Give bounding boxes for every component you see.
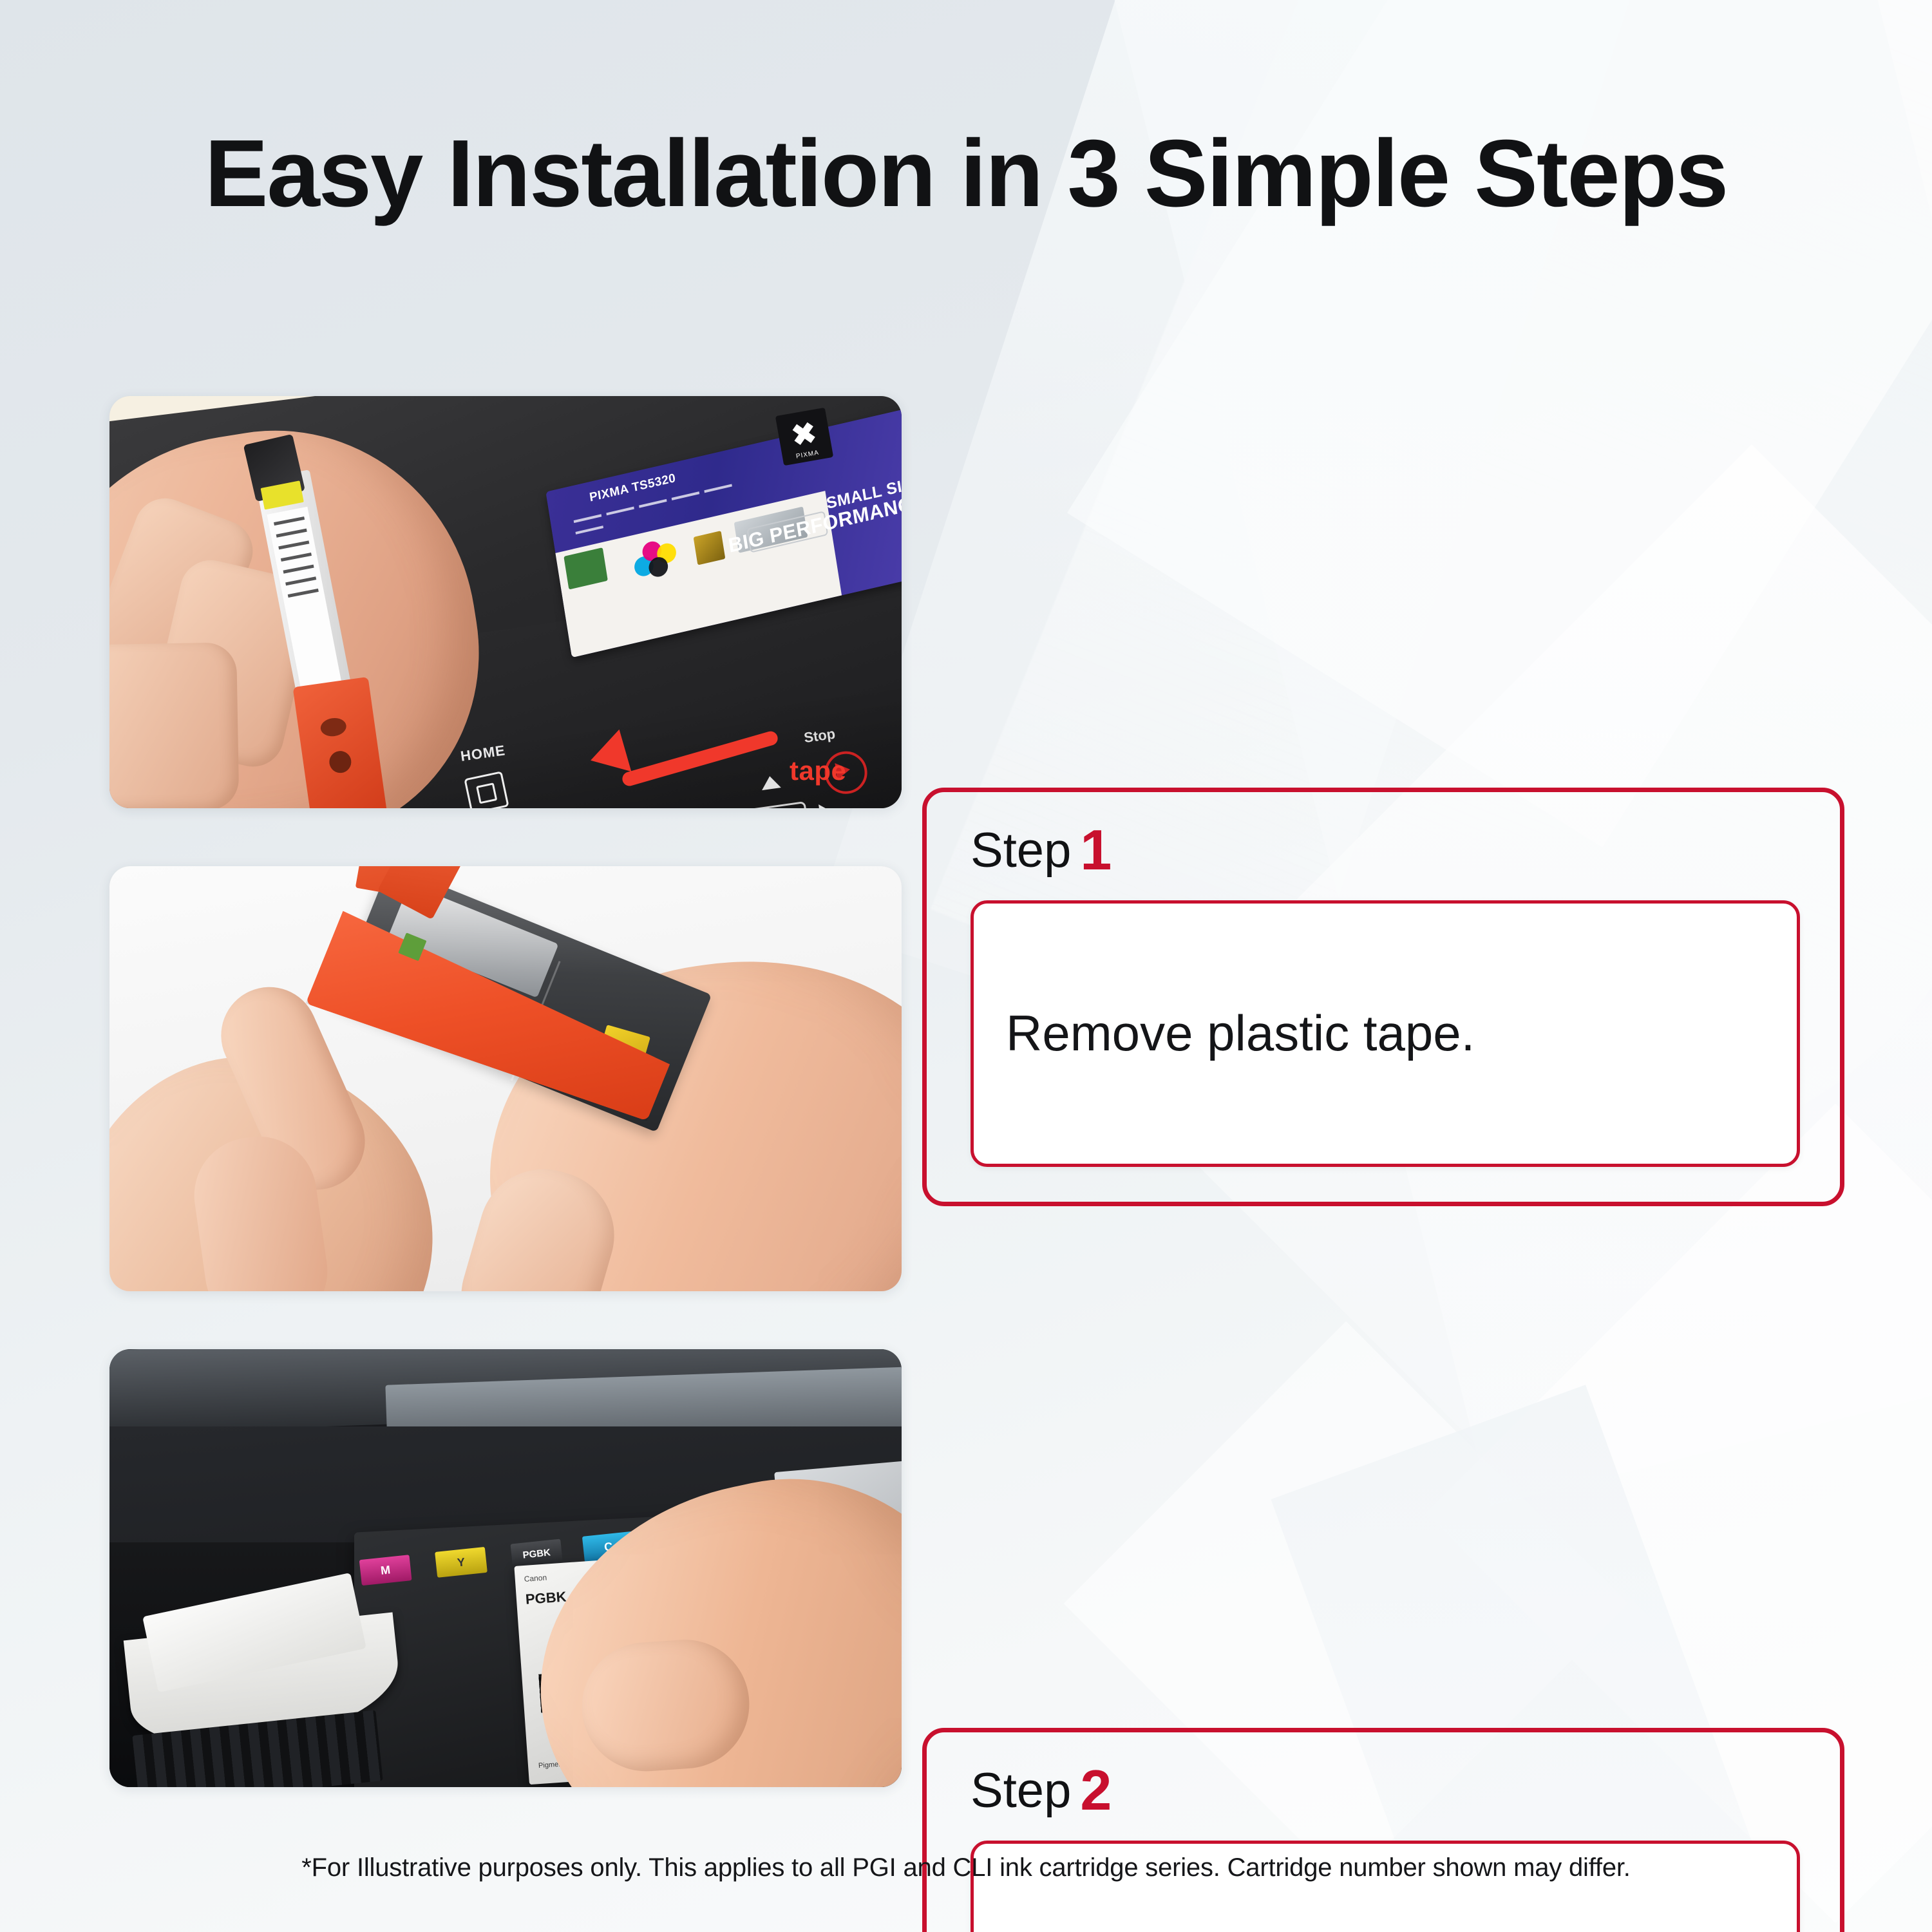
page-title: Easy Installation in 3 Simple Steps xyxy=(0,126,1932,222)
step-1-photo: PIXMA TS5320 SMALL SIZE BIG PERFORMANCE xyxy=(109,396,902,808)
step-2-photo xyxy=(109,866,902,1291)
step-row-3: M Y PGBK C Canon PGBK Pigment Black xyxy=(0,1349,1932,1787)
photo1-stop-label: Stop xyxy=(803,726,837,747)
photo1-annotation-arrow-icon xyxy=(586,718,779,795)
photo1-pixma-logo: ✖ PIXMA xyxy=(775,408,833,466)
photo3-cartridge-code: PGBK xyxy=(525,1589,567,1608)
photo1-tape-annotation-label: tape xyxy=(790,755,846,786)
step-row-1: PIXMA TS5320 SMALL SIZE BIG PERFORMANCE xyxy=(0,396,1932,808)
chevron-right-icon xyxy=(819,802,834,808)
photo3-slot-magenta: M xyxy=(359,1555,412,1586)
photo1-home-label: HOME xyxy=(459,742,506,764)
infographic-canvas: Easy Installation in 3 Simple Steps PIXM… xyxy=(0,0,1932,1932)
photo3-cartridge-brand: Canon xyxy=(524,1573,547,1584)
step-row-2: Step2 Remove orange cover. xyxy=(0,866,1932,1291)
step-3-photo: M Y PGBK C Canon PGBK Pigment Black xyxy=(109,1349,902,1787)
disclaimer-footnote: *For Illustrative purposes only. This ap… xyxy=(0,1853,1932,1882)
photo1-ok-button: OK xyxy=(748,801,810,808)
home-icon xyxy=(464,771,509,808)
photo3-slot-yellow: Y xyxy=(435,1547,488,1578)
